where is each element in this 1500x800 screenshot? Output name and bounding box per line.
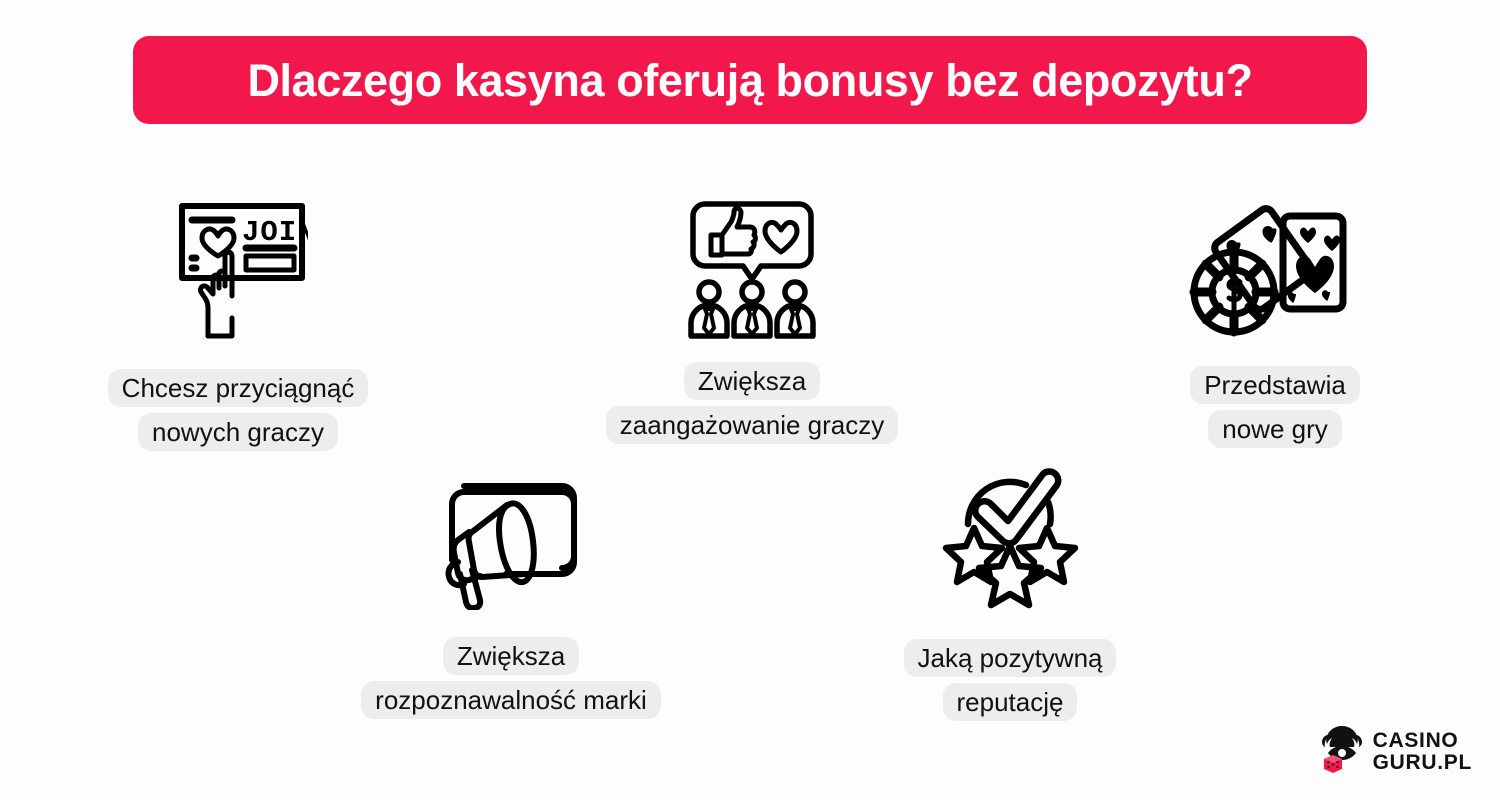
logo-line-2: GURU.PL xyxy=(1373,752,1472,773)
cards-and-chip-icon xyxy=(1188,196,1363,346)
card-label-line-1: Zwiększa xyxy=(684,362,820,400)
card-attract-new-players: JOIN Chcesz przyciągnąć nowych graczy xyxy=(78,196,398,452)
card-label-line-2: reputację xyxy=(943,683,1078,721)
megaphone-icon xyxy=(436,470,586,615)
casino-guru-wordmark: CASINO GURU.PL xyxy=(1373,730,1472,773)
casino-guru-logo[interactable]: CASINO GURU.PL xyxy=(1320,725,1472,778)
card-label-line-2: rozpoznawalność marki xyxy=(361,681,661,719)
card-label: Chcesz przyciągnąć nowych graczy xyxy=(108,369,369,452)
card-positive-reputation: Jaką pozytywną reputację xyxy=(874,462,1146,722)
card-label-line-2: nowe gry xyxy=(1208,410,1342,448)
page-title: Dlaczego kasyna oferują bonusy bez depoz… xyxy=(247,58,1252,103)
card-increase-engagement: Zwiększa zaangażowanie graczy xyxy=(572,196,932,445)
page-title-banner: Dlaczego kasyna oferują bonusy bez depoz… xyxy=(133,36,1367,124)
card-label: Przedstawia nowe gry xyxy=(1190,366,1360,449)
card-label: Zwiększa rozpoznawalność marki xyxy=(361,637,661,720)
card-brand-recognition: Zwiększa rozpoznawalność marki xyxy=(322,470,700,720)
card-label: Jaką pozytywną reputację xyxy=(904,639,1117,722)
card-label: Zwiększa zaangażowanie graczy xyxy=(606,362,899,445)
card-label-line-1: Jaką pozytywną xyxy=(904,639,1117,677)
card-label-line-2: nowych graczy xyxy=(138,413,338,451)
checkmark-stars-icon xyxy=(938,462,1083,617)
casino-guru-head-dice-icon xyxy=(1320,725,1364,778)
card-label-line-2: zaangażowanie graczy xyxy=(606,406,899,444)
logo-line-1: CASINO xyxy=(1373,730,1472,751)
card-label-line-1: Zwiększa xyxy=(443,637,579,675)
card-label-line-1: Chcesz przyciągnąć xyxy=(108,369,369,407)
svg-text:JOIN: JOIN xyxy=(242,216,308,249)
card-introduce-new-games: Przedstawia nowe gry xyxy=(1170,196,1380,449)
card-label-line-1: Przedstawia xyxy=(1190,366,1360,404)
join-form-click-icon: JOIN xyxy=(168,196,308,351)
players-feedback-icon xyxy=(687,196,817,346)
